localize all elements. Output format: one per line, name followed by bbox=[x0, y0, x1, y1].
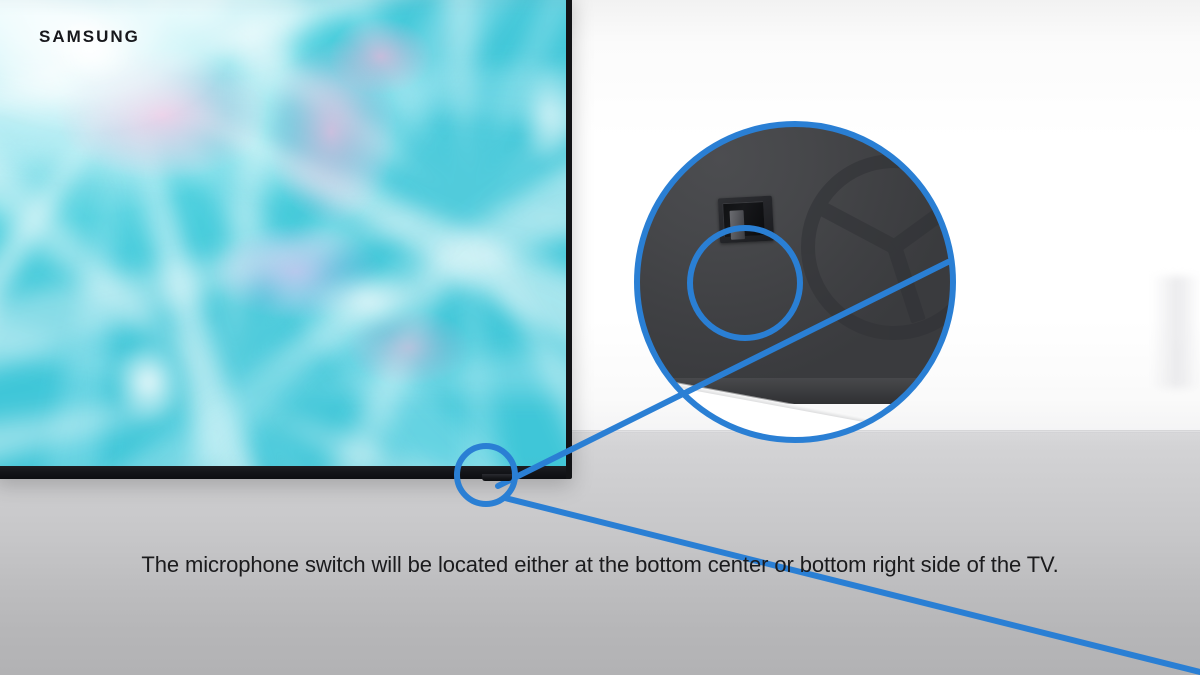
tv-stand-mount-icon bbox=[801, 154, 953, 350]
magnified-view-content bbox=[637, 124, 953, 440]
microphone-switch-tab bbox=[482, 474, 512, 481]
wall-shadow bbox=[1152, 276, 1198, 388]
microphone-slide-switch bbox=[718, 196, 774, 244]
stand-ring bbox=[801, 154, 953, 340]
screen-artwork-vignette bbox=[0, 0, 566, 466]
samsung-logo: SAMSUNG bbox=[39, 27, 140, 47]
video-frame: SAMSUNG bbox=[0, 0, 1200, 675]
tv-screen: SAMSUNG bbox=[0, 0, 566, 466]
switch-recess bbox=[722, 201, 765, 237]
television: SAMSUNG bbox=[0, 0, 572, 479]
switch-toggle bbox=[730, 210, 745, 240]
tv-underside-housing bbox=[637, 124, 953, 404]
caption-text: The microphone switch will be located ei… bbox=[0, 550, 1200, 580]
